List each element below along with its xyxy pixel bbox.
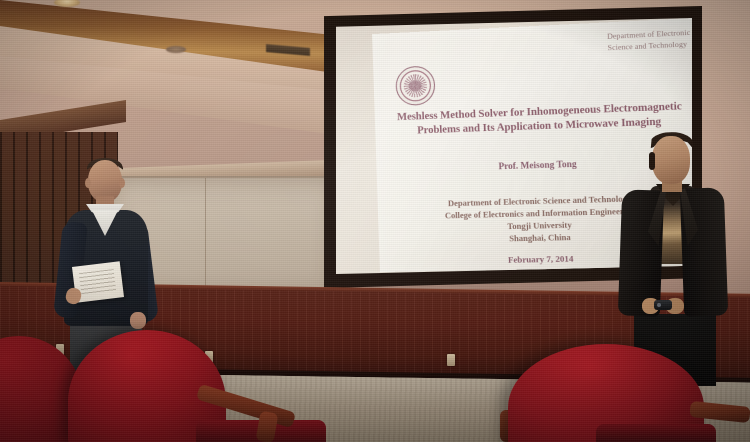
lecture-hall-photo: Department of Electronic Science and Tec… [0, 0, 750, 442]
moderator-right-hand [130, 312, 146, 329]
wall-outlet [447, 354, 455, 366]
presenter-head [652, 136, 690, 184]
university-seal-logo-icon [395, 65, 436, 106]
presenter-sideburn [649, 152, 655, 170]
slide-department-header: Department of Electronic Science and Tec… [607, 28, 691, 54]
auditorium-seat-base [596, 424, 716, 442]
presentation-remote-clicker [654, 300, 672, 310]
moderator-ear [119, 178, 125, 188]
moderator-ear [85, 178, 91, 188]
presenter-speaking [618, 132, 748, 382]
recessed-light-icon [166, 46, 186, 53]
